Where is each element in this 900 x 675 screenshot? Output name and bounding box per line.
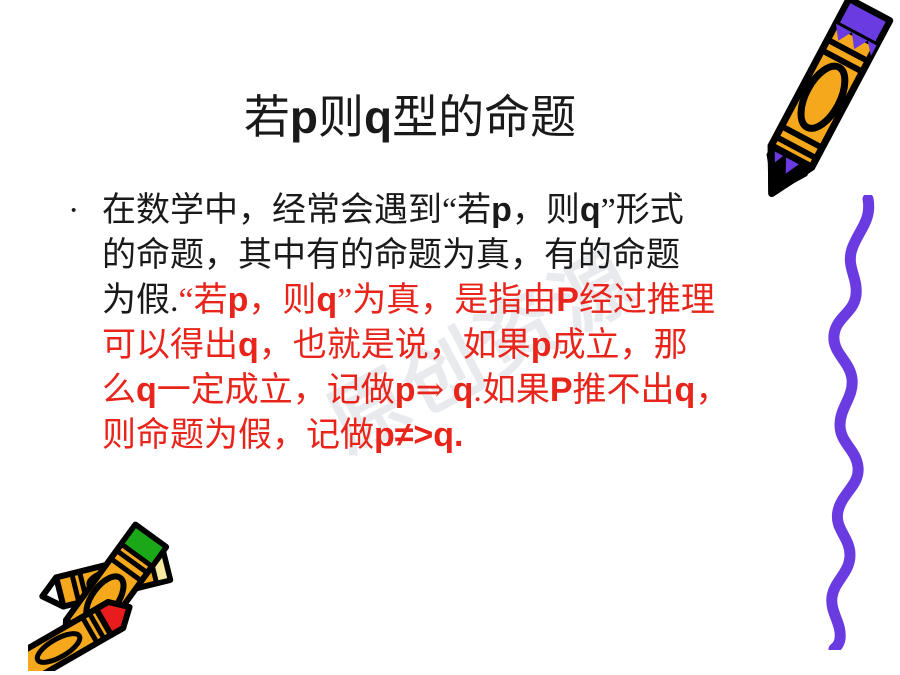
text-run: 一定成立，记做 (157, 372, 395, 409)
paragraph-line: 则命题为假，记做p≠>q. (102, 413, 838, 458)
body-content: · 在数学中，经常会遇到“若p，则q”形式的命题，其中有的命题为真，有的命题为假… (68, 188, 838, 458)
text-run: q (453, 371, 474, 409)
slide-canvas: 原创资源 (0, 0, 900, 675)
text-run: 则命题为假，记做 (102, 417, 374, 454)
bullet-list-item: · 在数学中，经常会遇到“若p，则q”形式的命题，其中有的命题为真，有的命题为假… (68, 188, 838, 458)
text-run: 成立，那 (552, 327, 688, 364)
title-seg-1: 若 (244, 92, 290, 143)
text-run: q (136, 371, 157, 409)
paragraph-text: 在数学中，经常会遇到“若p，则q”形式的命题，其中有的命题为真，有的命题为假.“… (102, 188, 838, 458)
text-run: P (556, 281, 579, 319)
text-run: q (238, 326, 259, 364)
text-run: q (675, 371, 696, 409)
text-run: P (550, 371, 573, 409)
text-run: p (228, 281, 249, 319)
title-seg-3: 则 (318, 92, 364, 143)
text-run: p≠>q. (374, 416, 464, 454)
text-run: ，也就是说，如果 (259, 327, 531, 364)
text-run: 可以得出 (102, 327, 238, 364)
text-run: ⇒ (416, 372, 453, 409)
text-run: “若 (179, 282, 228, 319)
crayon-cluster-icon (28, 516, 228, 675)
paragraph-line: 么q一定成立，记做p⇒ q.如果P推不出q， (102, 368, 838, 413)
title-seg-4: q (364, 91, 392, 143)
text-run: 经过推理 (579, 282, 715, 319)
paragraph-line: 可以得出q，也就是说，如果p成立，那 (102, 323, 838, 368)
text-run: p (531, 326, 552, 364)
text-run: p (395, 371, 416, 409)
text-run: .如果 (473, 372, 550, 409)
paragraph-line: 为假.“若p，则q”为真，是指由P经过推理 (102, 278, 838, 323)
text-run: ，则 (248, 282, 316, 319)
text-run: ”为真，是指由 (337, 282, 556, 319)
text-run: 的命题，其中有的命题为真，有的命题 (102, 237, 680, 274)
text-run: ， (695, 372, 729, 409)
title-seg-5: 型的命题 (392, 92, 576, 143)
paragraph-line: 在数学中，经常会遇到“若p，则q”形式 (102, 188, 838, 233)
bullet-marker: · (68, 188, 102, 233)
text-run: q (316, 281, 337, 319)
text-run: 么 (102, 372, 136, 409)
title-seg-2: p (290, 91, 318, 143)
text-run: q (580, 191, 601, 229)
text-run: ”形式 (601, 192, 684, 229)
text-run: 为假. (102, 282, 179, 319)
text-run: p (491, 191, 512, 229)
page-title: 若p则q型的命题 (0, 92, 820, 144)
text-run: ，则 (512, 192, 580, 229)
text-run: 推不出 (573, 372, 675, 409)
text-run: 在数学中，经常会遇到“若 (102, 192, 491, 229)
paragraph-line: 的命题，其中有的命题为真，有的命题 (102, 233, 838, 278)
